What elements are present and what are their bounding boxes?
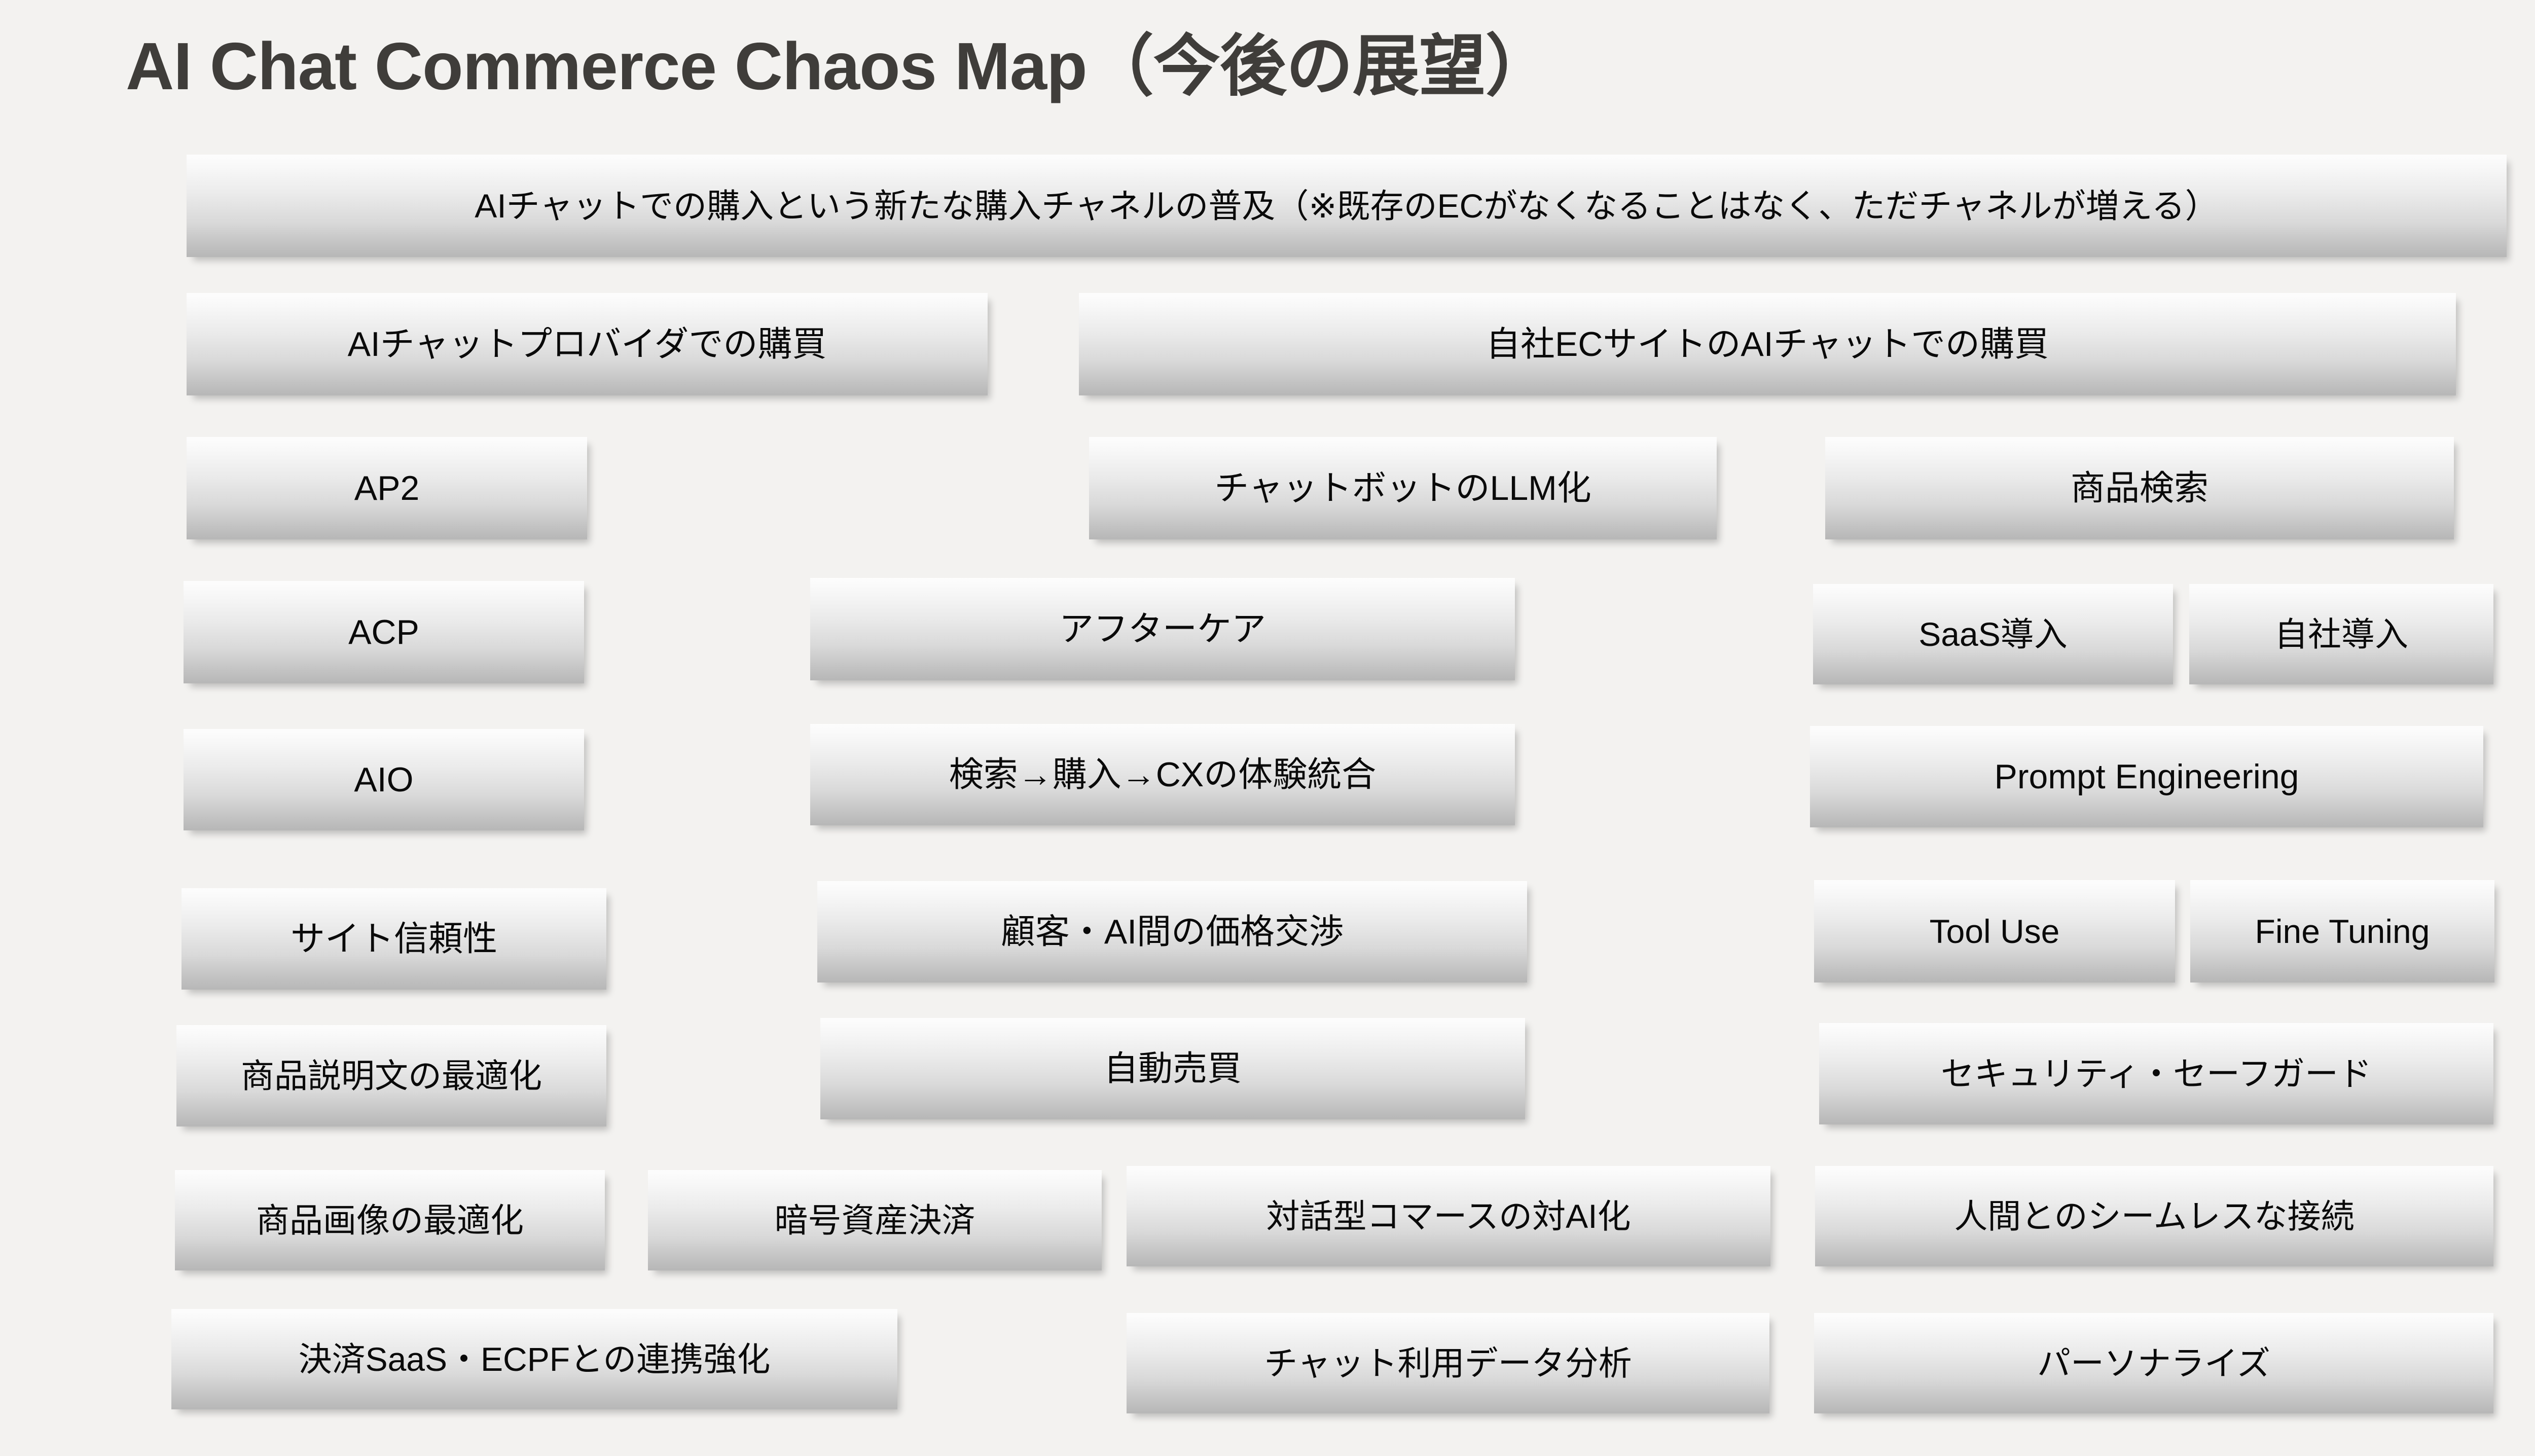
box-fine-tuning[interactable]: Fine Tuning [2190, 880, 2494, 982]
box-ai-chat-provider-purchase[interactable]: AIチャットプロバイダでの購買 [187, 293, 988, 395]
box-aftercare[interactable]: アフターケア [810, 578, 1515, 680]
box-label: サイト信頼性 [291, 922, 497, 956]
box-site-trust[interactable]: サイト信頼性 [182, 888, 606, 990]
box-chatbot-llm[interactable]: チャットボットのLLM化 [1089, 437, 1717, 539]
box-seamless-human-connection[interactable]: 人間とのシームレスな接続 [1815, 1166, 2493, 1266]
page-title: AI Chat Commerce Chaos Map（今後の展望） [126, 29, 1552, 103]
box-tool-use[interactable]: Tool Use [1814, 880, 2175, 982]
box-crypto-payment[interactable]: 暗号資産決済 [648, 1170, 1102, 1270]
box-security-safeguard[interactable]: セキュリティ・セーフガード [1819, 1023, 2493, 1124]
box-product-image-optimization[interactable]: 商品画像の最適化 [175, 1170, 605, 1270]
box-conversational-commerce-ai[interactable]: 対話型コマースの対AI化 [1127, 1166, 1770, 1266]
box-label: 商品検索 [2071, 471, 2208, 505]
box-own-ec-ai-chat-purchase[interactable]: 自社ECサイトのAIチャットでの購買 [1079, 293, 2456, 395]
box-search-purchase-cx[interactable]: 検索→購入→CXの体験統合 [810, 724, 1515, 825]
box-label: ACP [348, 615, 419, 649]
box-label: 暗号資産決済 [775, 1204, 975, 1237]
box-label: セキュリティ・セーフガード [1941, 1057, 2372, 1090]
box-prompt-engineering[interactable]: Prompt Engineering [1810, 726, 2483, 827]
box-customer-ai-price-negotiation[interactable]: 顧客・AI間の価格交渉 [817, 881, 1527, 982]
box-label: 決済SaaS・ECPFとの連携強化 [299, 1342, 771, 1376]
box-label: 検索→購入→CXの体験統合 [949, 757, 1376, 792]
box-label: 商品説明文の最適化 [241, 1059, 542, 1093]
box-label: Fine Tuning [2255, 915, 2430, 948]
box-label: 顧客・AI間の価格交渉 [1001, 915, 1344, 949]
box-acp[interactable]: ACP [184, 581, 584, 683]
box-label: 自動売買 [1104, 1051, 1242, 1086]
box-label: 自社ECサイトのAIチャットでの購買 [1486, 327, 2049, 361]
box-label: AIチャットプロバイダでの購買 [348, 327, 827, 361]
box-label: 人間とのシームレスな接続 [1954, 1199, 2354, 1233]
box-saas-introduction[interactable]: SaaS導入 [1813, 584, 2173, 684]
box-label: Tool Use [1930, 915, 2060, 948]
box-product-description-optimization[interactable]: 商品説明文の最適化 [176, 1025, 606, 1126]
box-personalize[interactable]: パーソナライズ [1814, 1313, 2493, 1413]
banner-box[interactable]: AIチャットでの購入という新たな購入チャネルの普及（※既存のECがなくなることは… [187, 155, 2507, 257]
box-payment-saas-ecpf-integration[interactable]: 決済SaaS・ECPFとの連携強化 [171, 1309, 897, 1409]
box-automated-trading[interactable]: 自動売買 [820, 1018, 1525, 1119]
box-label: 対話型コマースの対AI化 [1266, 1199, 1631, 1233]
box-label: 自社導入 [2274, 617, 2408, 651]
box-label: AP2 [354, 471, 420, 505]
box-label: AIO [354, 762, 413, 797]
banner-label: AIチャットでの購入という新たな購入チャネルの普及（※既存のECがなくなることは… [475, 189, 2218, 223]
slide-canvas: AI Chat Commerce Chaos Map（今後の展望） AIチャット… [0, 0, 2535, 1456]
box-label: 商品画像の最適化 [256, 1204, 524, 1237]
box-label: チャット利用データ分析 [1264, 1346, 1632, 1380]
box-ap2[interactable]: AP2 [187, 437, 587, 539]
box-chat-usage-data-analysis[interactable]: チャット利用データ分析 [1127, 1313, 1769, 1413]
box-label: チャットボットのLLM化 [1214, 471, 1591, 505]
box-label: アフターケア [1059, 612, 1266, 646]
box-product-search[interactable]: 商品検索 [1825, 437, 2454, 539]
box-aio[interactable]: AIO [184, 729, 584, 830]
box-label: パーソナライズ [2037, 1346, 2270, 1380]
box-label: SaaS導入 [1918, 617, 2067, 651]
box-label: Prompt Engineering [1994, 759, 2299, 794]
box-in-house-introduction[interactable]: 自社導入 [2189, 584, 2493, 684]
